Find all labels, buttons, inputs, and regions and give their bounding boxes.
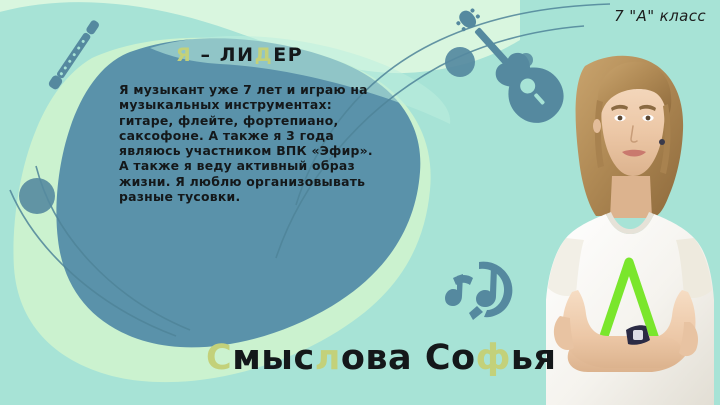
headline-run-1: – ЛИ (192, 44, 254, 66)
headline-run-2: Д (255, 44, 274, 66)
pupil-left (618, 116, 623, 121)
student-name-run-5: ья (511, 338, 557, 378)
student-name-run-1: мыс (232, 338, 315, 378)
headline-run-0: Я (176, 44, 192, 66)
slide-headline: Я – ЛИДЕР (176, 46, 303, 65)
student-name-run-4: ф (476, 338, 511, 378)
student-name: Смыслова Софья (206, 341, 556, 376)
earring (659, 139, 665, 145)
pupil-right (646, 116, 651, 121)
ear (593, 119, 601, 133)
presentation-slide: 7 "А" класс Я – ЛИДЕР Я музыкант уже 7 л… (0, 0, 720, 405)
student-name-run-3: ова Со (341, 338, 476, 378)
class-label: 7 "А" класс (614, 7, 706, 25)
neck (610, 176, 652, 218)
headline-run-3: ЕР (273, 44, 303, 66)
student-name-run-0: С (206, 338, 232, 378)
body-paragraph: Я музыкант уже 7 лет и играю на музыкаль… (119, 82, 419, 204)
student-name-run-2: л (315, 338, 341, 378)
wristwatch (626, 325, 650, 345)
